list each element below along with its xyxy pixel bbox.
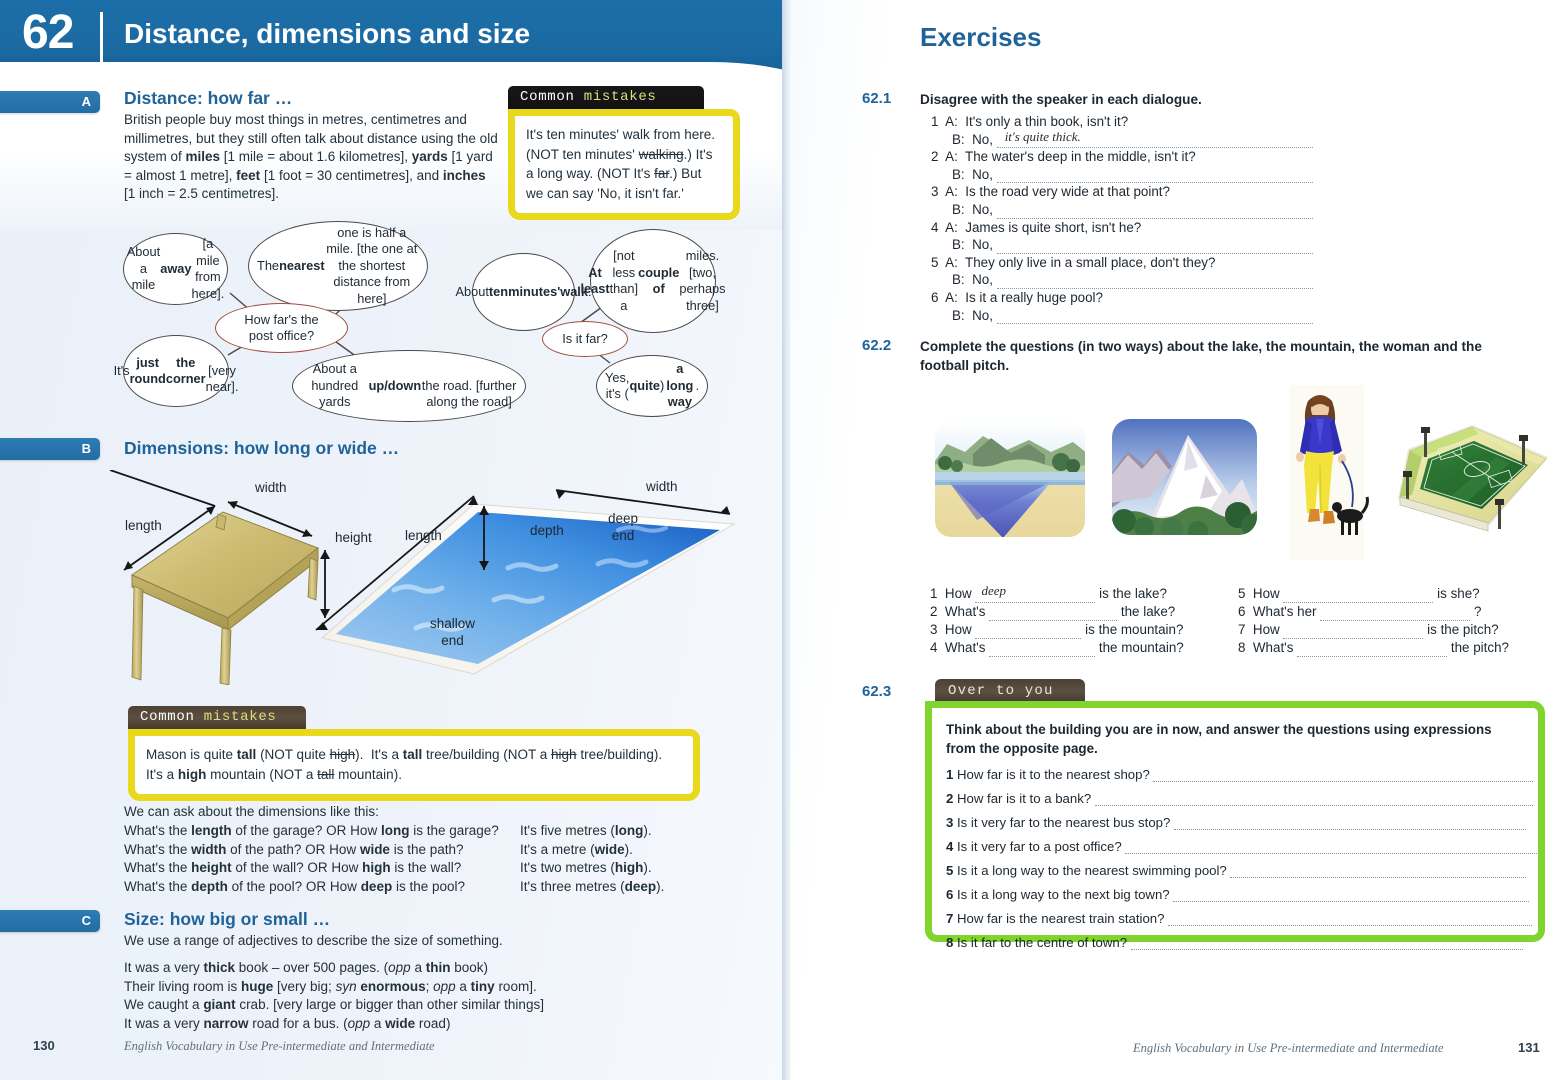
dialogue-item: 1 A: It's only a thin book, isn't it? B:… — [931, 113, 1501, 148]
dialogue-a-text: They only live in a small place, don't t… — [965, 255, 1215, 270]
common-mistakes-header-a: Common mistakes — [508, 86, 704, 109]
item-number: 6 — [1238, 604, 1245, 619]
dialogue-a-text: The water's deep in the middle, isn't it… — [965, 149, 1196, 164]
answer-blank[interactable] — [997, 276, 1313, 289]
size-example-3: We caught a giant crab. [very large or b… — [124, 996, 544, 1015]
exercise-number-62-3: 62.3 — [862, 683, 891, 700]
over-to-you-question[interactable]: 2 How far is it to a bank? — [946, 791, 1524, 806]
question-number: 1 — [946, 767, 953, 782]
dimension-intro: We can ask about the dimensions like thi… — [124, 803, 379, 822]
dimension-row: What's the width of the path? OR How wid… — [124, 841, 724, 860]
item-suffix: is the pitch? — [1427, 622, 1498, 637]
question-text: How far is it to a bank? — [957, 791, 1091, 806]
answer-blank[interactable] — [1095, 793, 1533, 806]
section-b-heading: Dimensions: how long or wide … — [124, 438, 399, 459]
answer-blank[interactable] — [1168, 913, 1532, 926]
dialogue-number: 4 — [931, 220, 938, 235]
item-suffix: is the mountain? — [1085, 622, 1183, 637]
common-mistakes-box-b: Common mistakes Mason is quite tall (NOT… — [128, 706, 700, 801]
over-to-you-question[interactable]: 8 Is it far to the centre of town? — [946, 935, 1524, 950]
dialogue-item: 2 A: The water's deep in the middle, isn… — [931, 148, 1501, 183]
speaker-a-label: A: — [945, 184, 958, 199]
pool-illustration — [298, 478, 738, 678]
answer-row[interactable]: 6 What's her ? — [1238, 603, 1538, 621]
question-text: Is it far to the centre of town? — [957, 935, 1127, 950]
label-pool-deep-end: deepend — [608, 510, 638, 544]
question-text: Is it very far to the nearest bus stop? — [957, 815, 1170, 830]
dialogue-b-prefix: No, — [972, 167, 993, 182]
handwritten-answer: it's quite thick. — [1005, 128, 1081, 146]
dialogue-b-prefix: No, — [972, 308, 993, 323]
dimension-question-1: What's the length of the garage? OR How … — [124, 822, 520, 841]
dimension-answer-3: It's two metres (high). — [520, 859, 652, 878]
answer-blank[interactable] — [1173, 889, 1529, 902]
question-text: Is it very far to a post office? — [957, 839, 1122, 854]
left-page-number: 130 — [33, 1038, 55, 1053]
bubble-nearest-one: The nearest one is half a mile. [the one… — [248, 221, 428, 311]
item-suffix: ? — [1474, 604, 1481, 619]
dialogue-item: 6 A: Is it a really huge pool? B: No, — [931, 289, 1501, 324]
dialogue-a-line: 4 A: James is quite short, isn't he? — [931, 219, 1501, 237]
dialogue-a-text: James is quite short, isn't he? — [965, 220, 1141, 235]
dialogue-number: 5 — [931, 255, 938, 270]
dialogue-b-prefix: No, — [972, 272, 993, 287]
answer-blank[interactable] — [1174, 817, 1526, 830]
question-text: Is it a long way to the nearest swimming… — [957, 863, 1227, 878]
answer-blank[interactable] — [1320, 608, 1470, 621]
dialogue-b-line[interactable]: B: No, it's quite thick. — [931, 131, 1501, 149]
dialogue-item: 5 A: They only live in a small place, do… — [931, 254, 1501, 289]
label-pool-depth: depth — [530, 523, 564, 538]
answer-blank[interactable] — [1297, 644, 1447, 657]
dimension-question-3: What's the height of the wall? OR How hi… — [124, 859, 520, 878]
section-a-heading: Distance: how far … — [124, 88, 292, 109]
item-number: 3 — [930, 622, 937, 637]
section-tab-c: C — [0, 910, 100, 932]
exercise-instruction-62-2: Complete the questions (in two ways) abo… — [920, 337, 1506, 375]
textbook-spread: 62 Distance, dimensions and size A Dista… — [0, 0, 1566, 1080]
over-to-you-intro: Think about the building you are in now,… — [946, 720, 1524, 758]
dialogue-b-line[interactable]: B: No, — [931, 166, 1501, 184]
exercise-number-62-2: 62.2 — [862, 337, 891, 354]
item-number: 1 — [930, 586, 937, 601]
question-number: 2 — [946, 791, 953, 806]
common-mistakes-text-a: It's ten minutes' walk from here. (NOT t… — [508, 109, 740, 220]
section-c-heading: Size: how big or small … — [124, 909, 330, 930]
dialogue-b-prefix: No, — [972, 237, 993, 252]
common-mistakes-header-b: Common mistakes — [128, 706, 306, 729]
size-example-2: Their living room is huge [very big; syn… — [124, 978, 544, 997]
answer-blank[interactable] — [997, 170, 1313, 183]
question-text: How far is it to the nearest shop? — [957, 767, 1150, 782]
cm-head-word-common-b: Common — [140, 709, 195, 725]
dialogue-list-62-1: 1 A: It's only a thin book, isn't it? B:… — [931, 113, 1501, 324]
question-text: How far is the nearest train station? — [957, 911, 1164, 926]
bubble-at-least-a-couple-of-miles: At least [not less than] a couple of mil… — [590, 229, 716, 333]
item-prefix: What's — [945, 604, 986, 619]
speaker-a-label: A: — [945, 290, 958, 305]
over-to-you-box: Think about the building you are in now,… — [925, 701, 1545, 942]
label-table-width: width — [255, 480, 287, 495]
answer-row[interactable]: 3 How is the mountain? — [930, 621, 1230, 639]
section-c-intro: We use a range of adjectives to describe… — [124, 932, 503, 951]
answer-blank[interactable] — [1283, 590, 1433, 603]
question-number: 7 — [946, 911, 953, 926]
bubble-quite-a-long-way: Yes, it's (quite)a long way. — [596, 355, 708, 417]
answer-blank[interactable] — [1153, 769, 1533, 782]
dialogue-a-text: Is the road very wide at that point? — [965, 184, 1170, 199]
answer-blank[interactable] — [975, 626, 1081, 639]
page-title: Distance, dimensions and size — [124, 18, 530, 50]
dialogue-a-text: Is it a really huge pool? — [965, 290, 1103, 305]
dimensions-diagram: width length height — [110, 470, 750, 685]
left-page: 62 Distance, dimensions and size A Dista… — [0, 0, 790, 1080]
bubble-just-round-the-corner: It's just roundthe corner[very near]. — [123, 335, 229, 407]
dialogue-a-line: 2 A: The water's deep in the middle, isn… — [931, 148, 1501, 166]
mountain-image — [1110, 417, 1260, 539]
answer-row[interactable]: 4 What's the mountain? — [930, 639, 1230, 657]
lake-cross-section-image — [933, 420, 1088, 540]
football-pitch-stadium-image — [1380, 413, 1555, 543]
size-example-4: It was a very narrow road for a bus. (op… — [124, 1015, 544, 1034]
dimension-answer-1: It's five metres (long). — [520, 822, 652, 841]
answer-blank[interactable] — [997, 311, 1313, 324]
item-prefix: How — [1253, 622, 1280, 637]
item-suffix: is the lake? — [1099, 586, 1167, 601]
bubble-about-ten-minutes-walk: About tenminutes'walk. — [472, 253, 575, 331]
answer-list-62-2-left: 1 How deep is the lake? 2 What's the lak… — [930, 585, 1230, 657]
question-number: 5 — [946, 863, 953, 878]
dialogue-b-line[interactable]: B: No, — [931, 236, 1501, 254]
dimension-row: What's the depth of the pool? OR How dee… — [124, 878, 724, 897]
speaker-b-label: B: — [952, 167, 965, 182]
dialogue-a-line: 3 A: Is the road very wide at that point… — [931, 183, 1501, 201]
item-suffix: is she? — [1437, 586, 1479, 601]
item-suffix: the lake? — [1121, 604, 1175, 619]
over-to-you-question[interactable]: 5 Is it a long way to the nearest swimmi… — [946, 863, 1524, 878]
question-number: 8 — [946, 935, 953, 950]
dialogue-number: 3 — [931, 184, 938, 199]
question-number: 3 — [946, 815, 953, 830]
chapter-number-divider — [100, 12, 103, 62]
over-to-you-question[interactable]: 6 Is it a long way to the next big town? — [946, 887, 1524, 902]
dialogue-b-line[interactable]: B: No, — [931, 201, 1501, 219]
exercise-instruction-62-1: Disagree with the speaker in each dialog… — [920, 90, 1520, 109]
dimension-answer-4: It's three metres (deep). — [520, 878, 664, 897]
answer-row[interactable]: 2 What's the lake? — [930, 603, 1230, 621]
speaker-a-label: A: — [945, 149, 958, 164]
dialogue-number: 6 — [931, 290, 938, 305]
answer-blank[interactable] — [1125, 841, 1539, 854]
item-prefix: How — [945, 586, 972, 601]
item-number: 5 — [1238, 586, 1245, 601]
answer-blank[interactable] — [1283, 626, 1423, 639]
distance-bubble-diagram: About a mileaway [a milefrom here]. The … — [110, 215, 740, 415]
item-prefix: What's — [945, 640, 986, 655]
section-tab-a: A — [0, 91, 100, 113]
speaker-a-label: A: — [945, 114, 958, 129]
label-table-length: length — [125, 518, 162, 533]
common-mistakes-box-a: Common mistakes It's ten minutes' walk f… — [508, 86, 740, 220]
question-number: 4 — [946, 839, 953, 854]
dialogue-number: 2 — [931, 149, 938, 164]
dimension-row: What's the height of the wall? OR How hi… — [124, 859, 724, 878]
size-example-1: It was a very thick book – over 500 page… — [124, 959, 544, 978]
cm-head-word-mistakes-b: mistakes — [204, 709, 277, 725]
bubble-question-is-it-far: Is it far? — [542, 321, 628, 357]
speaker-b-label: B: — [952, 202, 965, 217]
label-pool-shallow-end: shallowend — [430, 615, 475, 649]
item-prefix: How — [945, 622, 972, 637]
bubble-hundred-yards: About a hundred yards up/downthe road. [… — [292, 350, 526, 422]
over-to-you-header: Over to you — [935, 679, 1085, 703]
question-number: 6 — [946, 887, 953, 902]
right-page-number: 131 — [1518, 1040, 1540, 1055]
dimension-question-table: What's the length of the garage? OR How … — [124, 822, 724, 896]
answer-row[interactable]: 7 How is the pitch? — [1238, 621, 1538, 639]
label-pool-width: width — [646, 479, 678, 494]
answer-blank[interactable] — [1131, 937, 1523, 950]
dialogue-number: 1 — [931, 114, 938, 129]
speaker-b-label: B: — [952, 308, 965, 323]
woman-walking-dog-image — [1282, 385, 1372, 560]
left-page-footer: English Vocabulary in Use Pre-intermedia… — [124, 1039, 435, 1054]
answer-row[interactable]: 5 How is she? — [1238, 585, 1538, 603]
dialogue-b-prefix: No, — [972, 132, 993, 147]
answer-blank[interactable] — [1230, 865, 1526, 878]
label-pool-length: length — [405, 528, 442, 543]
dialogue-b-line[interactable]: B: No, — [931, 271, 1501, 289]
over-to-you-question[interactable]: 3 Is it very far to the nearest bus stop… — [946, 815, 1524, 830]
item-number: 7 — [1238, 622, 1245, 637]
dimension-question-4: What's the depth of the pool? OR How dee… — [124, 878, 520, 897]
dimension-answer-2: It's a metre (wide). — [520, 841, 633, 860]
section-a-paragraph: British people buy most things in metres… — [124, 111, 499, 204]
dimension-row: What's the length of the garage? OR How … — [124, 822, 724, 841]
item-number: 8 — [1238, 640, 1245, 655]
common-mistakes-text-b: Mason is quite tall (NOT quite high). It… — [128, 729, 700, 801]
over-to-you-question[interactable]: 4 Is it very far to a post office? — [946, 839, 1524, 854]
handwritten-answer: deep — [981, 582, 1006, 600]
dialogue-item: 3 A: Is the road very wide at that point… — [931, 183, 1501, 218]
chapter-number: 62 — [22, 5, 73, 60]
dialogue-a-line: 5 A: They only live in a small place, do… — [931, 254, 1501, 272]
answer-blank[interactable]: it's quite thick. — [997, 135, 1313, 148]
dialogue-a-line: 6 A: Is it a really huge pool? — [931, 289, 1501, 307]
cm-head-word-common: Common — [520, 89, 575, 105]
answer-row[interactable]: 8 What's the pitch? — [1238, 639, 1538, 657]
item-number: 2 — [930, 604, 937, 619]
answer-blank[interactable] — [997, 241, 1313, 254]
size-examples-list: It was a very thick book – over 500 page… — [124, 959, 544, 1033]
item-suffix: the mountain? — [1099, 640, 1184, 655]
dialogue-item: 4 A: James is quite short, isn't he? B: … — [931, 219, 1501, 254]
exercise-number-62-1: 62.1 — [862, 90, 891, 107]
exercises-title: Exercises — [920, 22, 1041, 53]
answer-blank[interactable] — [997, 206, 1313, 219]
item-prefix: What's — [1253, 640, 1294, 655]
over-to-you-question[interactable]: 1 How far is it to the nearest shop? — [946, 767, 1524, 782]
answer-blank[interactable] — [989, 608, 1117, 621]
answer-blank[interactable] — [989, 644, 1095, 657]
over-to-you-question[interactable]: 7 How far is the nearest train station? — [946, 911, 1524, 926]
bubble-about-a-mile-away: About a mileaway [a milefrom here]. — [123, 233, 228, 305]
speaker-a-label: A: — [945, 255, 958, 270]
answer-blank[interactable]: deep — [975, 590, 1095, 603]
answer-list-62-2-right: 5 How is she? 6 What's her ? 7 How is th… — [1238, 585, 1538, 657]
question-text: Is it a long way to the next big town? — [957, 887, 1170, 902]
section-tab-b: B — [0, 438, 100, 460]
item-prefix: How — [1253, 586, 1280, 601]
speaker-b-label: B: — [952, 132, 965, 147]
answer-row[interactable]: 1 How deep is the lake? — [930, 585, 1230, 603]
cm-head-word-mistakes: mistakes — [584, 89, 657, 105]
item-suffix: the pitch? — [1451, 640, 1509, 655]
speaker-b-label: B: — [952, 237, 965, 252]
dimension-question-2: What's the width of the path? OR How wid… — [124, 841, 520, 860]
speaker-b-label: B: — [952, 272, 965, 287]
dialogue-b-line[interactable]: B: No, — [931, 307, 1501, 325]
dialogue-b-prefix: No, — [972, 202, 993, 217]
speaker-a-label: A: — [945, 220, 958, 235]
item-prefix: What's her — [1253, 604, 1317, 619]
right-page-footer: English Vocabulary in Use Pre-intermedia… — [1133, 1041, 1444, 1056]
item-number: 4 — [930, 640, 937, 655]
